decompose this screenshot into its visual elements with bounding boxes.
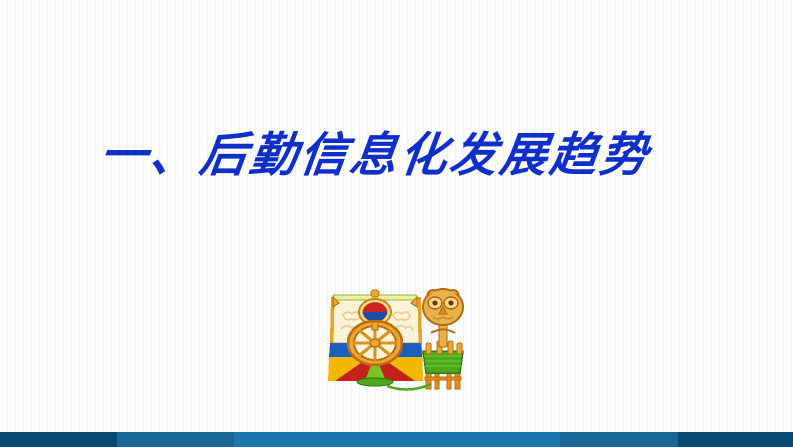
korean-banner-drum-with-owl-icon — [325, 281, 465, 391]
page-title: 一、后勤信息化发展趋势 — [97, 132, 653, 179]
segment-mid-left — [117, 432, 234, 447]
segment-light-center — [234, 432, 560, 447]
slide-canvas: 一、后勤信息化发展趋势 — [0, 0, 793, 447]
title-block: 一、后勤信息化发展趋势 — [100, 118, 700, 192]
segment-dark-left — [0, 432, 117, 447]
bottom-accent-bar — [0, 432, 793, 447]
segment-dark-right — [678, 432, 793, 447]
segment-mid-right — [560, 432, 678, 447]
